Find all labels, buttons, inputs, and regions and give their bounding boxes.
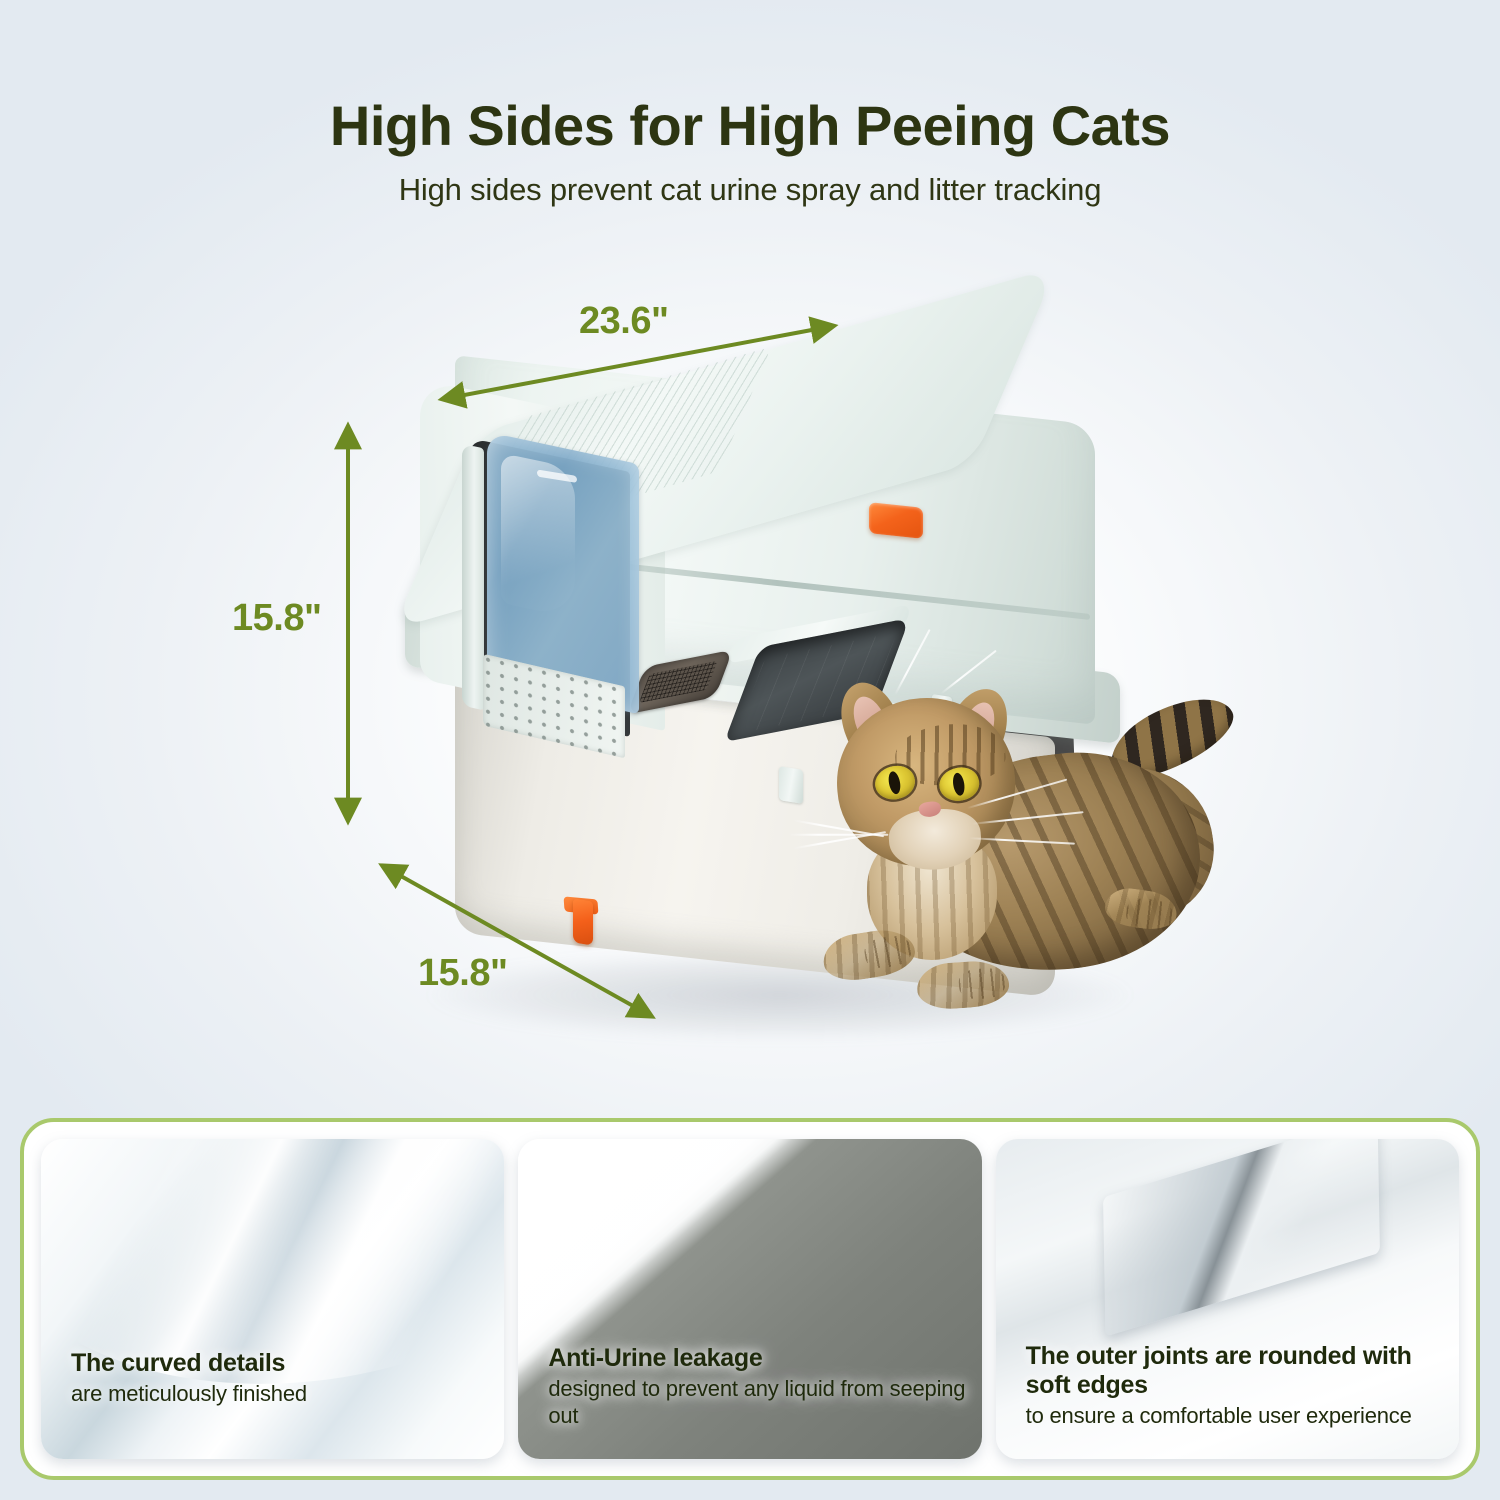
feature-card-desc: to ensure a comfortable user experience bbox=[1026, 1403, 1452, 1429]
feature-card-desc: designed to prevent any liquid from seep… bbox=[548, 1376, 974, 1429]
feature-card-title: Anti-Urine leakage bbox=[548, 1344, 974, 1373]
feature-card-anti-urine-leakage[interactable]: Anti-Urine leakage designed to prevent a… bbox=[518, 1139, 981, 1459]
cat-pupil-left bbox=[887, 770, 902, 795]
hero-scene bbox=[0, 250, 1500, 1110]
tabby-cat bbox=[805, 680, 1225, 1070]
cat-toes bbox=[1124, 896, 1174, 932]
page-subtitle: High sides prevent cat urine spray and l… bbox=[0, 172, 1500, 208]
feature-panel: The curved details are meticulously fini… bbox=[20, 1118, 1480, 1480]
feature-card-text: The outer joints are rounded with soft e… bbox=[1026, 1342, 1452, 1429]
feature-card-title: The curved details bbox=[71, 1349, 307, 1378]
cat-toes bbox=[958, 967, 1006, 1000]
cat-pupil-right bbox=[952, 772, 966, 796]
depth-dimension-label: 15.8" bbox=[418, 952, 507, 995]
feature-card-desc: are meticulously finished bbox=[71, 1381, 307, 1407]
feature-card-soft-edges[interactable]: The outer joints are rounded with soft e… bbox=[996, 1139, 1459, 1459]
orange-door-latch bbox=[573, 898, 593, 945]
filter-mesh bbox=[639, 661, 718, 703]
feature-card-title: The outer joints are rounded with soft e… bbox=[1026, 1342, 1452, 1400]
infographic-page: High Sides for High Peeing Cats High sid… bbox=[0, 0, 1500, 1500]
orange-badge bbox=[869, 502, 923, 539]
feature-card-text: Anti-Urine leakage designed to prevent a… bbox=[548, 1344, 974, 1429]
width-dimension-label: 23.6" bbox=[579, 300, 668, 343]
page-title: High Sides for High Peeing Cats bbox=[0, 96, 1500, 156]
feature-card-curved-details[interactable]: The curved details are meticulously fini… bbox=[41, 1139, 504, 1459]
door-hinge-frame bbox=[462, 444, 484, 711]
litter-box-product bbox=[0, 250, 1500, 1110]
cat-front-paw-right bbox=[916, 959, 1011, 1011]
height-dimension-label: 15.8" bbox=[232, 597, 321, 640]
hood-side-latch-front bbox=[779, 766, 803, 804]
cat-toes bbox=[863, 934, 913, 971]
feature-card-text: The curved details are meticulously fini… bbox=[71, 1349, 307, 1407]
header: High Sides for High Peeing Cats High sid… bbox=[0, 96, 1500, 208]
